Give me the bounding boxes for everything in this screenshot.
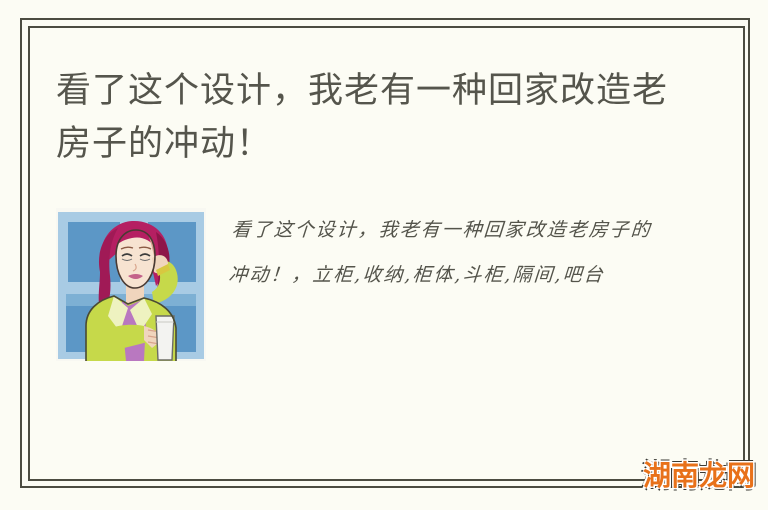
page-title: 看了这个设计，我老有一种回家改造老房子的冲动！ <box>56 64 696 170</box>
article-summary-block: 看了这个设计，我老有一种回家改造老房子的冲动！，立柜,收纳,柜体,斗柜,隔间,吧… <box>56 208 716 361</box>
page-root: 看了这个设计，我老有一种回家改造老房子的冲动！ <box>0 0 768 510</box>
article-summary-text: 看了这个设计，我老有一种回家改造老房子的冲动！，立柜,收纳,柜体,斗柜,隔间,吧… <box>227 208 653 298</box>
woman-illustration-icon <box>56 208 206 361</box>
article-content: 看了这个设计，我老有一种回家改造老房子的冲动！ <box>28 26 745 481</box>
article-thumbnail[interactable] <box>56 208 206 361</box>
site-watermark: 湖南龙网 <box>643 462 755 490</box>
